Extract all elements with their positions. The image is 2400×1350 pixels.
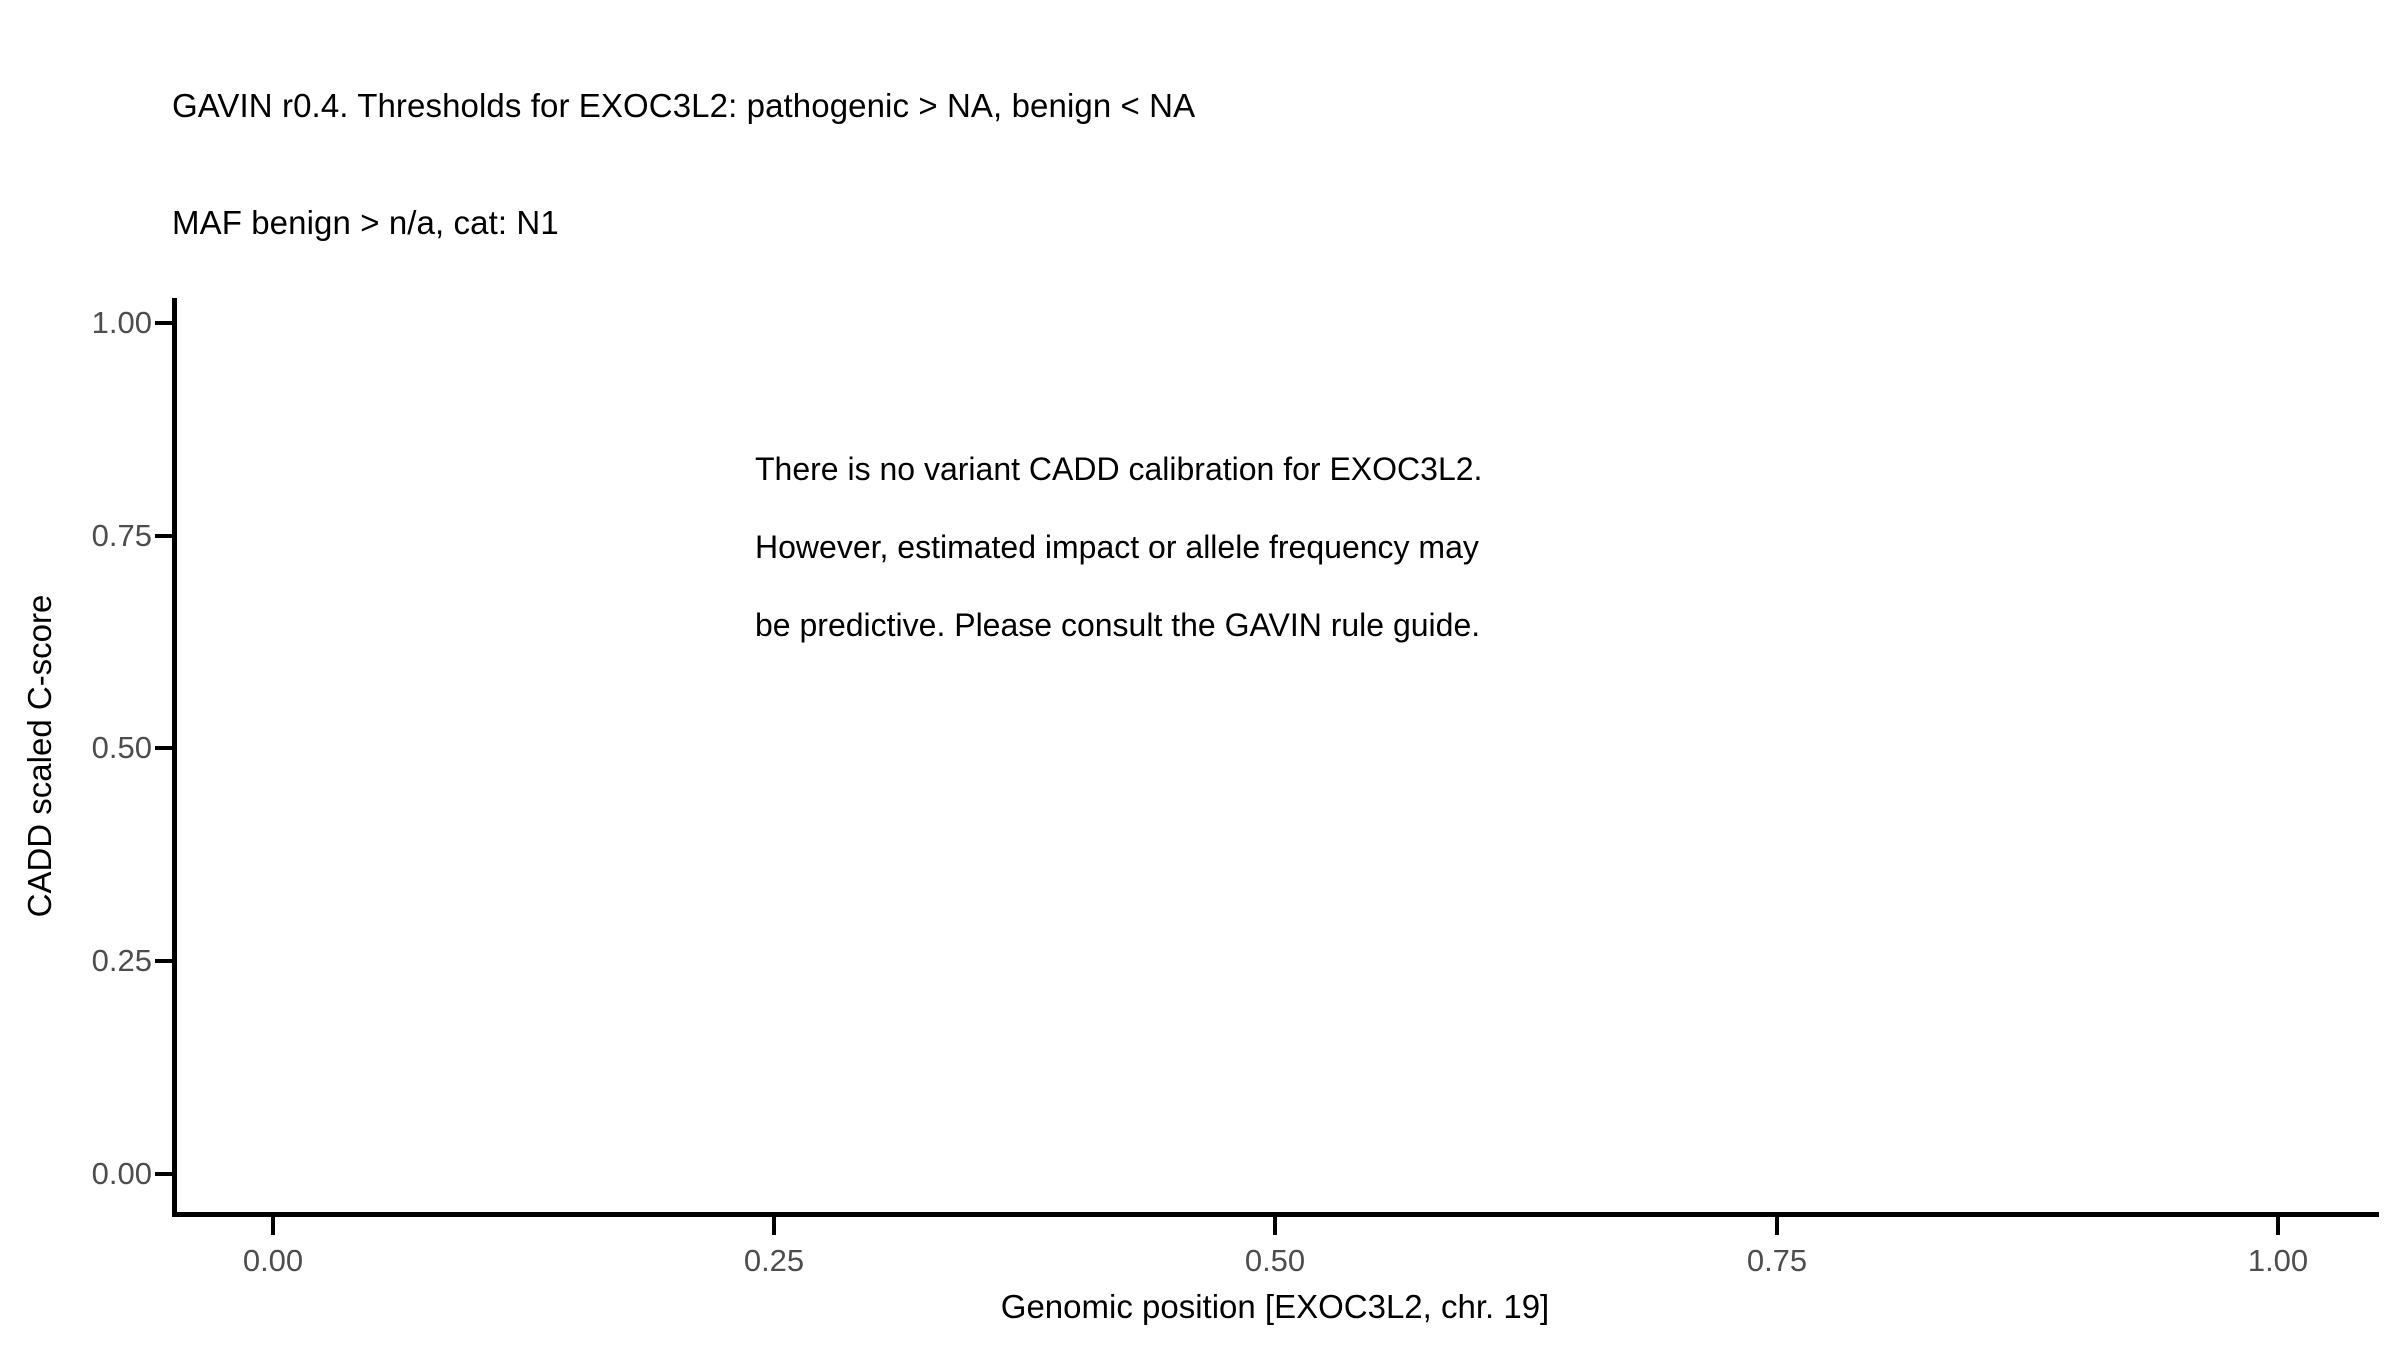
- y-tick-mark-0: [155, 1172, 173, 1176]
- y-tick-mark-2: [155, 746, 173, 750]
- y-tick-mark-3: [155, 534, 173, 538]
- chart-title-line-1: GAVIN r0.4. Thresholds for EXOC3L2: path…: [172, 86, 2272, 125]
- x-tick-label-3: 0.75: [1747, 1243, 1807, 1279]
- y-tick-mark-4: [155, 321, 173, 325]
- y-tick-label-1: 0.25: [92, 943, 152, 979]
- y-axis-line: [172, 298, 177, 1217]
- x-tick-label-1: 0.25: [744, 1243, 804, 1279]
- no-calibration-annotation: There is no variant CADD calibration for…: [755, 430, 1482, 664]
- x-tick-mark-4: [2276, 1217, 2280, 1235]
- x-tick-mark-2: [1273, 1217, 1277, 1235]
- y-tick-label-4: 1.00: [92, 305, 152, 341]
- x-tick-label-0: 0.00: [243, 1243, 303, 1279]
- y-tick-label-0: 0.00: [92, 1156, 152, 1192]
- y-tick-label-3: 0.75: [92, 518, 152, 554]
- x-axis-title: Genomic position [EXOC3L2, chr. 19]: [1001, 1288, 1549, 1326]
- y-axis-title: CADD scaled C-score: [21, 595, 59, 918]
- x-tick-mark-0: [271, 1217, 275, 1235]
- chart-canvas: GAVIN r0.4. Thresholds for EXOC3L2: path…: [0, 0, 2400, 1350]
- annotation-line-3: be predictive. Please consult the GAVIN …: [755, 586, 1482, 664]
- y-tick-label-2: 0.50: [92, 730, 152, 766]
- x-tick-label-2: 0.50: [1245, 1243, 1305, 1279]
- x-tick-label-4: 1.00: [2248, 1243, 2308, 1279]
- y-tick-mark-1: [155, 959, 173, 963]
- x-tick-mark-3: [1775, 1217, 1779, 1235]
- x-tick-mark-1: [772, 1217, 776, 1235]
- chart-title-line-2: MAF benign > n/a, cat: N1: [172, 203, 2272, 242]
- annotation-line-1: There is no variant CADD calibration for…: [755, 430, 1482, 508]
- annotation-line-2: However, estimated impact or allele freq…: [755, 508, 1482, 586]
